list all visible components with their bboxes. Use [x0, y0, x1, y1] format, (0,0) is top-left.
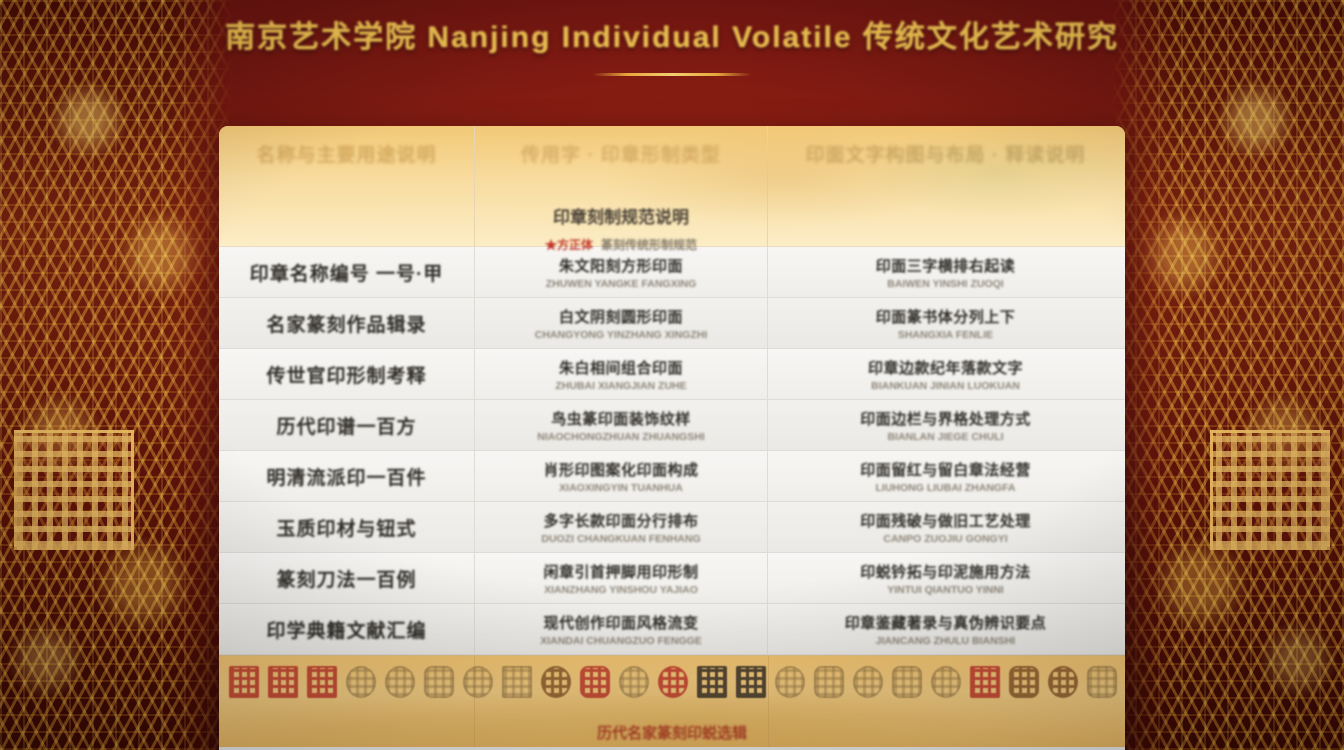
- table-cell-0: 名家篆刻作品辑录: [219, 298, 474, 348]
- table-cell-0: 印学典籍文献汇编: [219, 604, 474, 654]
- title-divider: [592, 73, 752, 76]
- cell-main-text: 印章鉴藏著录与真伪辨识要点: [845, 612, 1047, 633]
- cell-main-text: 白文阴刻圆形印面: [559, 306, 683, 327]
- comparison-table-card: 名称与主要用途说明 传用字 · 印章形制类型 印章刻制规范说明 ★方正体 篆刻传…: [219, 126, 1125, 750]
- table-row[interactable]: 历代印谱一百方鸟虫篆印面装饰纹样NIAOCHONGZHUAN ZHUANGSHI…: [219, 400, 1125, 451]
- table-cell-1: 现代创作印面风格流变XIANDAI CHUANGZUO FENGGE: [474, 604, 768, 654]
- cell-main-text: 玉质印材与钮式: [276, 514, 416, 541]
- cell-main-text: 印章边款纪年落款文字: [868, 357, 1023, 378]
- table-cell-0: 历代印谱一百方: [219, 400, 474, 450]
- table-cell-1: 朱文阳刻方形印面ZHUWEN YANGKE FANGXING: [474, 247, 768, 297]
- seal-stamp-strip: [219, 666, 1125, 698]
- right-ornament-panel: [1112, 0, 1344, 750]
- cell-sub-text: XIANDAI CHUANGZUO FENGGE: [540, 635, 702, 647]
- header-sub-label-1: ★方正体 篆刻传统形制规范: [545, 236, 697, 253]
- cell-main-text: 印面篆书体分列上下: [876, 306, 1016, 327]
- seal-stamp-icon: [424, 666, 454, 698]
- table-cell-2: 印章鉴藏著录与真伪辨识要点JIANCANG ZHULU BIANSHI: [768, 604, 1123, 654]
- table-cell-2: 印面篆书体分列上下SHANGXIA FENLIE: [768, 298, 1123, 348]
- table-cell-1: 闲章引首押脚用印形制XIANZHANG YINSHOU YAJIAO: [474, 553, 768, 603]
- header-top-label-0: 名称与主要用途说明: [256, 140, 436, 167]
- table-row[interactable]: 印学典籍文献汇编现代创作印面风格流变XIANDAI CHUANGZUO FENG…: [219, 604, 1125, 655]
- cell-sub-text: BAIWEN YINSHI ZUOQI: [887, 278, 1003, 290]
- left-ornament-panel: [0, 0, 232, 750]
- table-body: 印章名称编号 一号·甲朱文阳刻方形印面ZHUWEN YANGKE FANGXIN…: [219, 247, 1125, 655]
- table-header-row: 名称与主要用途说明 传用字 · 印章形制类型 印章刻制规范说明 ★方正体 篆刻传…: [219, 126, 1125, 247]
- table-row[interactable]: 印章名称编号 一号·甲朱文阳刻方形印面ZHUWEN YANGKE FANGXIN…: [219, 247, 1125, 298]
- cell-main-text: 印面残破与做旧工艺处理: [860, 510, 1031, 531]
- seal-stamp-icon: [892, 666, 922, 698]
- seal-stamp-icon: [853, 666, 883, 698]
- cell-sub-text: NIAOCHONGZHUAN ZHUANGSHI: [537, 431, 704, 443]
- cell-sub-text: DUOZI CHANGKUAN FENHANG: [541, 533, 700, 545]
- cell-main-text: 印章名称编号 一号·甲: [250, 259, 444, 286]
- cell-sub-text: SHANGXIA FENLIE: [898, 329, 993, 341]
- cell-sub-text: JIANCANG ZHULU BIANSHI: [876, 635, 1015, 647]
- table-cell-1: 多字长款印面分行排布DUOZI CHANGKUAN FENHANG: [474, 502, 768, 552]
- table-cell-2: 印蜕钤拓与印泥施用方法YINTUI QIANTUO YINNI: [768, 553, 1123, 603]
- seal-stamp-icon: [229, 666, 259, 698]
- poster-canvas: 南京艺术学院 Nanjing Individual Volatile 传统文化艺…: [0, 0, 1344, 750]
- cell-main-text: 闲章引首押脚用印形制: [543, 561, 698, 582]
- cell-sub-text: BIANLAN JIEGE CHULI: [887, 431, 1003, 443]
- table-cell-0: 玉质印材与钮式: [219, 502, 474, 552]
- table-cell-1: 肖形印图案化印面构成XIAOXINGYIN TUANHUA: [474, 451, 768, 501]
- cell-main-text: 朱白相间组合印面: [559, 357, 683, 378]
- seal-stamp-icon: [736, 666, 766, 698]
- table-cell-0: 明清流派印一百件: [219, 451, 474, 501]
- table-cell-2: 印面留红与留白章法经营LIUHONG LIUBAI ZHANGFA: [768, 451, 1123, 501]
- table-cell-2: 印章边款纪年落款文字BIANKUAN JINIAN LUOKUAN: [768, 349, 1123, 399]
- seal-stamp-icon: [463, 666, 493, 698]
- cell-main-text: 印面留红与留白章法经营: [860, 459, 1031, 480]
- cell-sub-text: CHANGYONG YINZHANG XINGZHI: [535, 329, 707, 341]
- table-cell-2: 印面边栏与界格处理方式BIANLAN JIEGE CHULI: [768, 400, 1123, 450]
- seal-stamp-icon: [541, 666, 571, 698]
- seal-stamp-icon: [775, 666, 805, 698]
- cell-main-text: 印面三字横排右起读: [876, 255, 1016, 276]
- cell-sub-text: YINTUI QIANTUO YINNI: [887, 584, 1003, 596]
- table-cell-0: 印章名称编号 一号·甲: [219, 247, 474, 297]
- footer-caption: 历代名家篆刻印蜕选辑: [219, 722, 1125, 743]
- header-main-label-1: 印章刻制规范说明: [553, 203, 689, 228]
- ornament-seal-left-icon: [14, 430, 134, 550]
- table-footer-band: 历代名家篆刻印蜕选辑: [219, 655, 1125, 747]
- page-title: 南京艺术学院 Nanjing Individual Volatile 传统文化艺…: [0, 12, 1344, 56]
- table-cell-0: 传世官印形制考释: [219, 349, 474, 399]
- seal-stamp-icon: [658, 666, 688, 698]
- table-cell-2: 印面三字横排右起读BAIWEN YINSHI ZUOQI: [768, 247, 1123, 297]
- table-header-cell-0: 名称与主要用途说明: [219, 126, 474, 246]
- cell-main-text: 鸟虫篆印面装饰纹样: [551, 408, 691, 429]
- seal-stamp-icon: [619, 666, 649, 698]
- seal-stamp-icon: [1087, 666, 1117, 698]
- table-cell-1: 白文阴刻圆形印面CHANGYONG YINZHANG XINGZHI: [474, 298, 768, 348]
- cell-main-text: 名家篆刻作品辑录: [266, 310, 426, 337]
- header-sub-text-1: 篆刻传统形制规范: [601, 236, 697, 253]
- cell-sub-text: CANPO ZUOJIU GONGYI: [883, 533, 1007, 545]
- header-top-label-2: 印面文字构图与布局 · 释读说明: [806, 140, 1086, 167]
- table-cell-1: 鸟虫篆印面装饰纹样NIAOCHONGZHUAN ZHUANGSHI: [474, 400, 768, 450]
- cell-sub-text: XIANZHANG YINSHOU YAJIAO: [544, 584, 698, 596]
- cell-main-text: 印面边栏与界格处理方式: [860, 408, 1031, 429]
- table-row[interactable]: 传世官印形制考释朱白相间组合印面ZHUBAI XIANGJIAN ZUHE印章边…: [219, 349, 1125, 400]
- cell-main-text: 印学典籍文献汇编: [266, 616, 426, 643]
- seal-stamp-icon: [1009, 666, 1039, 698]
- cell-main-text: 肖形印图案化印面构成: [543, 459, 698, 480]
- seal-stamp-icon: [931, 666, 961, 698]
- title-block: 南京艺术学院 Nanjing Individual Volatile 传统文化艺…: [0, 12, 1344, 76]
- table-row[interactable]: 明清流派印一百件肖形印图案化印面构成XIAOXINGYIN TUANHUA印面留…: [219, 451, 1125, 502]
- table-header-cell-1: 传用字 · 印章形制类型 印章刻制规范说明 ★方正体 篆刻传统形制规范: [474, 126, 768, 246]
- cell-main-text: 篆刻刀法一百例: [276, 565, 416, 592]
- cell-main-text: 历代印谱一百方: [276, 412, 416, 439]
- seal-stamp-icon: [346, 666, 376, 698]
- cell-sub-text: BIANKUAN JINIAN LUOKUAN: [871, 380, 1020, 392]
- table-row[interactable]: 玉质印材与钮式多字长款印面分行排布DUOZI CHANGKUAN FENHANG…: [219, 502, 1125, 553]
- seal-stamp-icon: [307, 666, 337, 698]
- cell-main-text: 朱文阳刻方形印面: [559, 255, 683, 276]
- seal-stamp-icon: [814, 666, 844, 698]
- table-cell-0: 篆刻刀法一百例: [219, 553, 474, 603]
- cell-main-text: 多字长款印面分行排布: [543, 510, 698, 531]
- cell-main-text: 印蜕钤拓与印泥施用方法: [860, 561, 1031, 582]
- seal-stamp-icon: [697, 666, 727, 698]
- table-header-cell-2: 印面文字构图与布局 · 释读说明: [768, 126, 1123, 246]
- header-accent-badge-1: ★方正体: [545, 236, 593, 253]
- cell-sub-text: XIAOXINGYIN TUANHUA: [559, 482, 683, 494]
- table-cell-1: 朱白相间组合印面ZHUBAI XIANGJIAN ZUHE: [474, 349, 768, 399]
- header-top-label-1: 传用字 · 印章形制类型: [521, 140, 721, 167]
- cell-main-text: 传世官印形制考释: [266, 361, 426, 388]
- seal-stamp-icon: [385, 666, 415, 698]
- cell-sub-text: LIUHONG LIUBAI ZHANGFA: [876, 482, 1016, 494]
- table-row[interactable]: 名家篆刻作品辑录白文阴刻圆形印面CHANGYONG YINZHANG XINGZ…: [219, 298, 1125, 349]
- table-cell-2: 印面残破与做旧工艺处理CANPO ZUOJIU GONGYI: [768, 502, 1123, 552]
- seal-stamp-icon: [970, 666, 1000, 698]
- cell-main-text: 明清流派印一百件: [266, 463, 426, 490]
- cell-main-text: 现代创作印面风格流变: [543, 612, 698, 633]
- seal-stamp-icon: [268, 666, 298, 698]
- seal-stamp-icon: [502, 666, 532, 698]
- seal-stamp-icon: [1048, 666, 1078, 698]
- ornament-seal-right-icon: [1210, 430, 1330, 550]
- table-row[interactable]: 篆刻刀法一百例闲章引首押脚用印形制XIANZHANG YINSHOU YAJIA…: [219, 553, 1125, 604]
- cell-sub-text: ZHUBAI XIANGJIAN ZUHE: [555, 380, 686, 392]
- seal-stamp-icon: [580, 666, 610, 698]
- cell-sub-text: ZHUWEN YANGKE FANGXING: [546, 278, 697, 290]
